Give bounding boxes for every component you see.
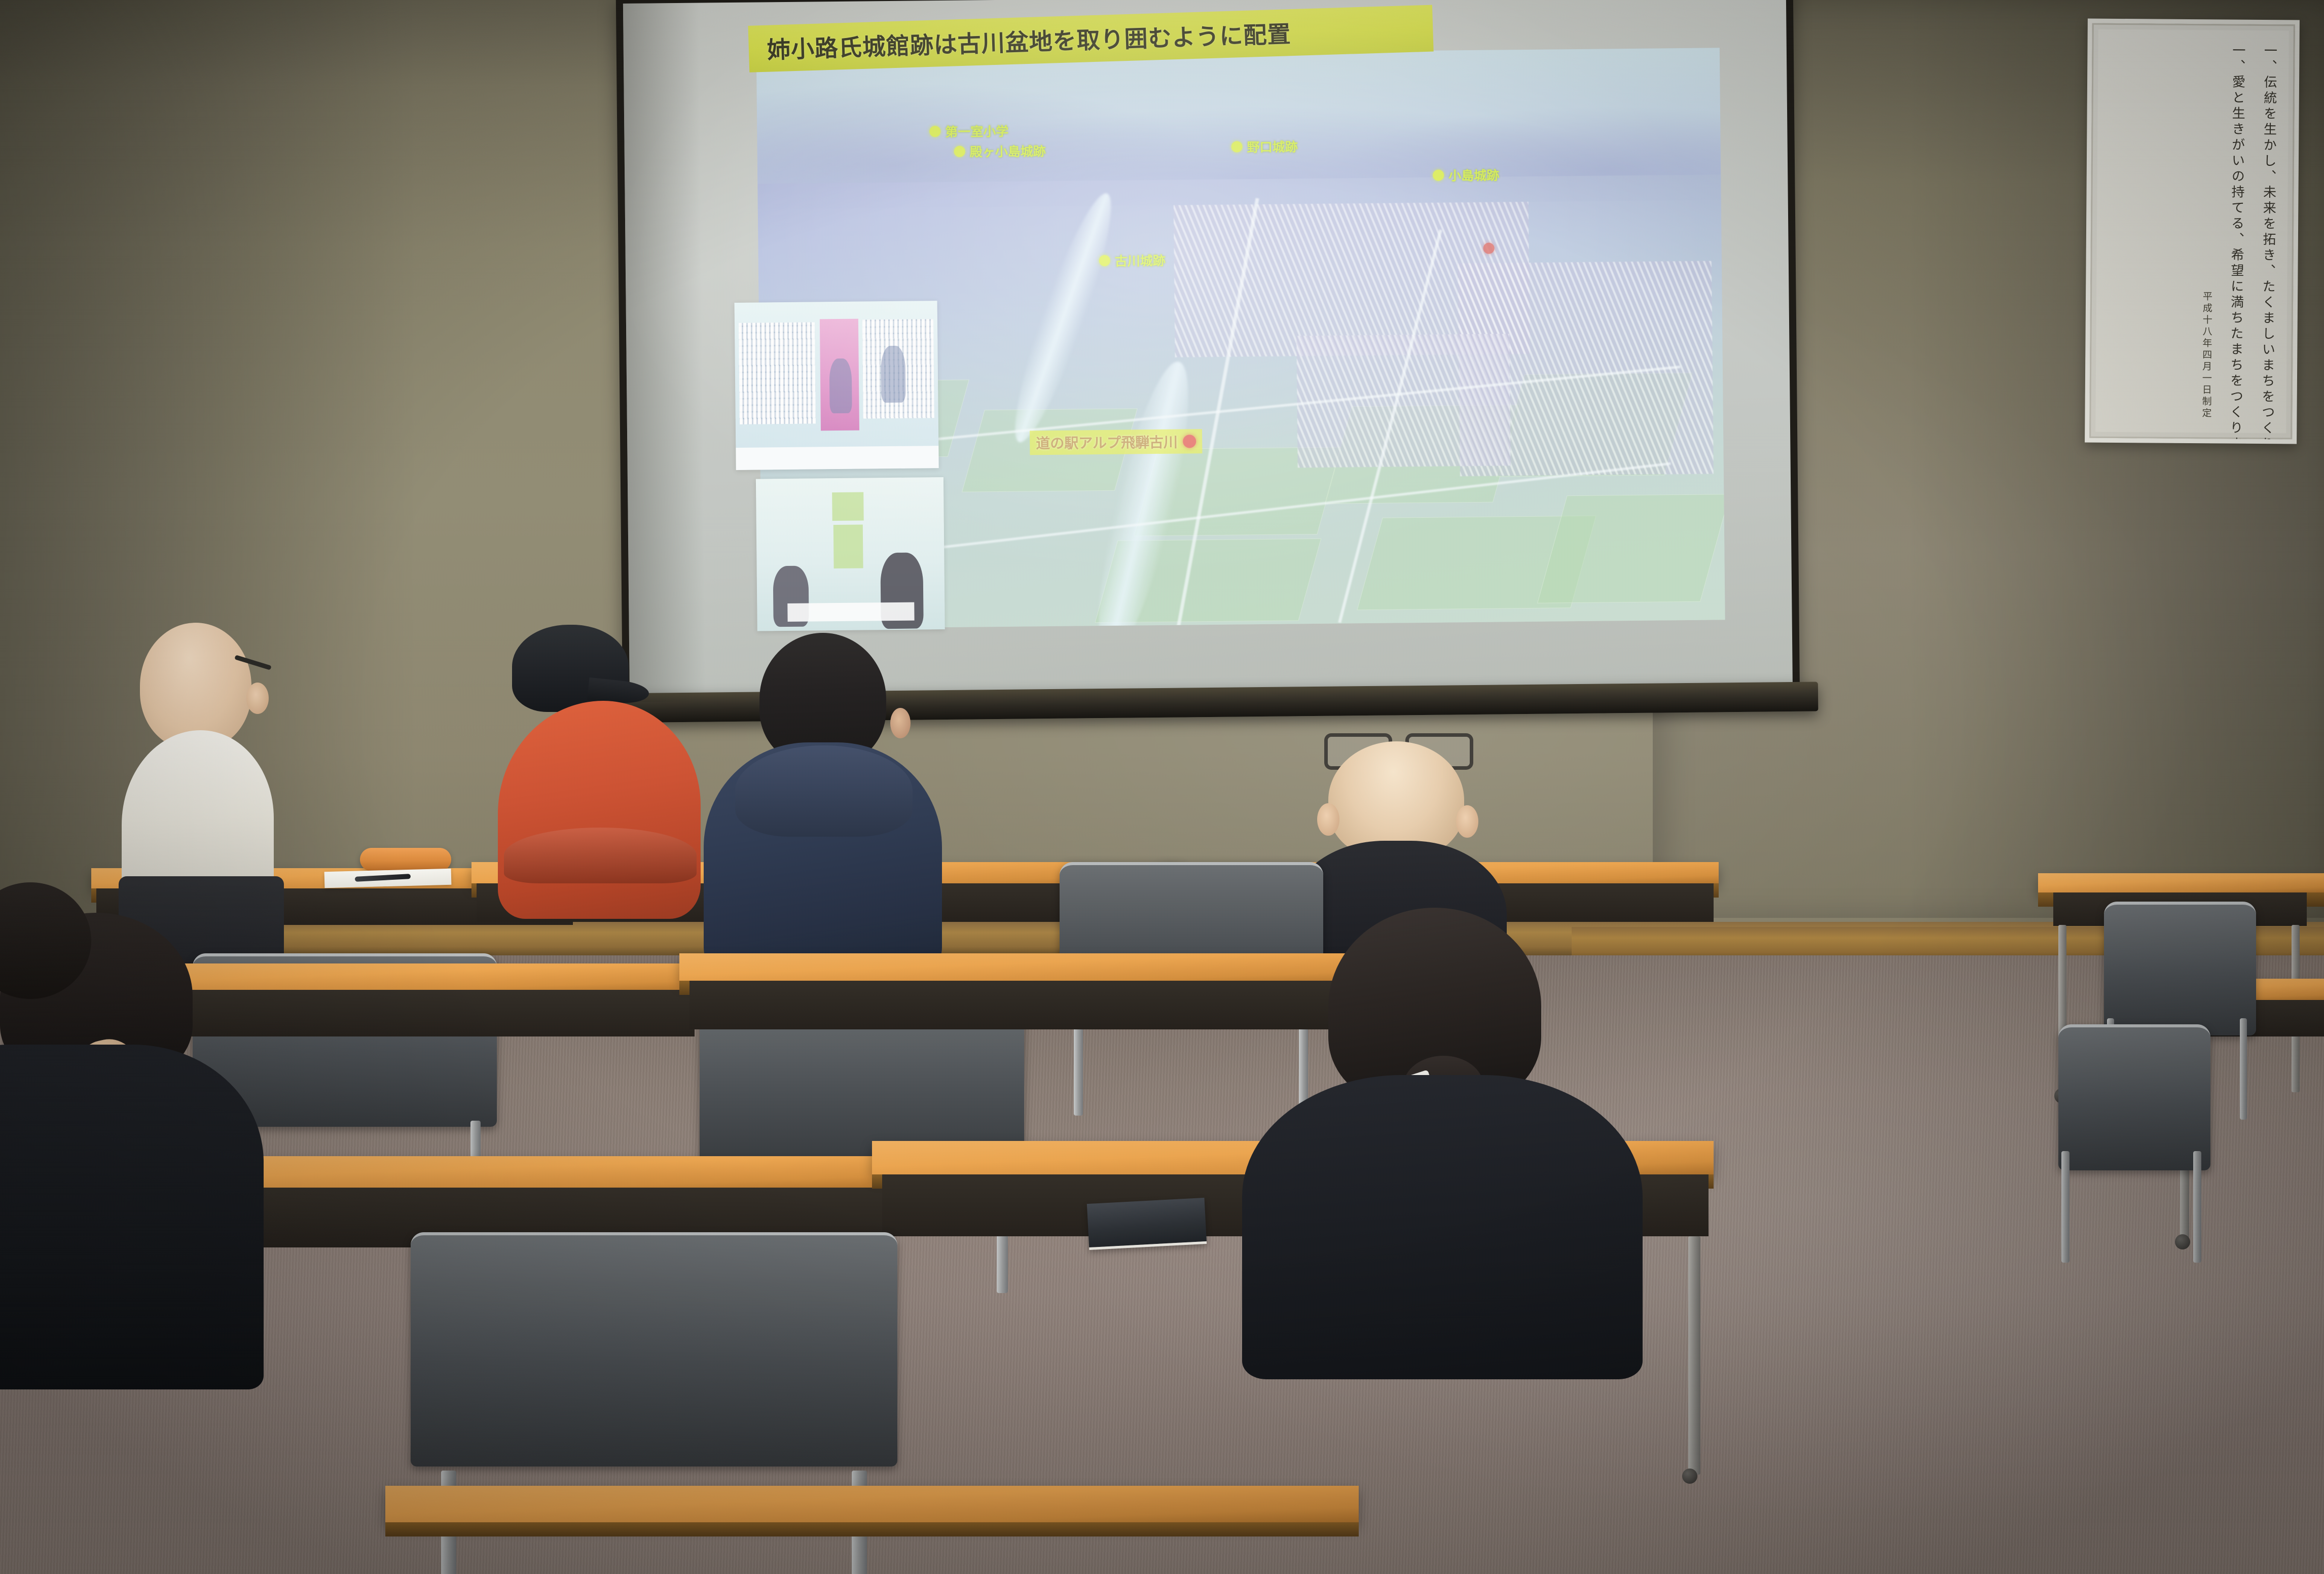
map-label-2: 小島城跡 bbox=[1433, 165, 1499, 184]
desk-object-pencil-case bbox=[360, 848, 451, 871]
desk-side-upper bbox=[2038, 873, 2324, 893]
inset-photo-upper bbox=[735, 301, 939, 470]
torso bbox=[0, 1045, 264, 1389]
map-label-2-text: 小島城跡 bbox=[1448, 165, 1499, 184]
map-highlight-label: 道の駅アルプ飛騨古川 bbox=[1030, 429, 1202, 455]
poster-signature: 平成十八年四月一日制定 bbox=[2200, 291, 2213, 419]
desk-row2-right bbox=[679, 953, 1420, 982]
inset-photo-lower bbox=[756, 477, 945, 631]
torso bbox=[1242, 1075, 1643, 1379]
attendee-partial-edge bbox=[0, 882, 101, 1014]
map-label-3-text: 古川城跡 bbox=[1115, 251, 1166, 270]
poster-content: 一、伝統を生かし、未来を拓き、たくましいまちをつくります。 一、愛と生きがいの持… bbox=[2095, 29, 2289, 434]
map-marker-dot bbox=[954, 146, 965, 157]
desk-edge bbox=[385, 1522, 1359, 1536]
desk-row4-front bbox=[385, 1486, 1359, 1523]
ear-right bbox=[1456, 805, 1478, 838]
screen-surface: 第一室小学 殿ヶ小島城跡 野口城跡 小島城跡 古川城跡 bbox=[623, 0, 1793, 702]
map-highlight-text: 道の駅アルプ飛騨古川 bbox=[1036, 432, 1178, 453]
torso bbox=[498, 701, 701, 919]
map-marker-dot bbox=[1099, 255, 1110, 266]
ear-left bbox=[1317, 803, 1339, 836]
map-marker-dot bbox=[929, 126, 940, 137]
map-marker-red bbox=[1483, 243, 1494, 254]
chair-backrest bbox=[2058, 1024, 2210, 1170]
screen-frame: 第一室小学 殿ヶ小島城跡 野口城跡 小島城跡 古川城跡 bbox=[616, 0, 1800, 707]
map-highlight-marker bbox=[1183, 435, 1196, 448]
ear bbox=[890, 708, 911, 738]
slide-title-text: 姉小路氏城館跡は古川盆地を取り囲むように配置 bbox=[748, 16, 1292, 66]
jacket-fold bbox=[504, 828, 697, 883]
chair-leg bbox=[2240, 1018, 2247, 1120]
chair-leg bbox=[2061, 1151, 2069, 1263]
map-label-0-line2: 殿ヶ小島城跡 bbox=[970, 141, 1046, 160]
attendee-man-navy-jacket bbox=[740, 633, 978, 1008]
chair-side-lower[interactable] bbox=[2058, 1024, 2210, 1263]
map-label-1-text: 野口城跡 bbox=[1247, 137, 1297, 156]
chair-backrest bbox=[2104, 902, 2256, 1035]
chair-backrest bbox=[411, 1232, 897, 1466]
desk-skirt-row2-right bbox=[689, 981, 1414, 1029]
map-label-0: 第一室小学 殿ヶ小島城跡 bbox=[929, 121, 1046, 161]
attendee-woman-ponytail bbox=[1328, 908, 1734, 1574]
map-label-1: 野口城跡 bbox=[1231, 137, 1297, 156]
map-marker-dot bbox=[1433, 170, 1444, 181]
attendee-man-cap-orange-jacket bbox=[512, 625, 715, 939]
poster-line-1: 一、伝統を生かし、未来を拓き、たくましいまちをつくります。 bbox=[2259, 44, 2278, 420]
chair-leg bbox=[2193, 1151, 2201, 1263]
poster-line-2: 一、愛と生きがいの持てる、希望に満ちたまちをつくります。 bbox=[2227, 44, 2246, 420]
framed-wall-poster: 一、伝統を生かし、未来を拓き、たくましいまちをつくります。 一、愛と生きがいの持… bbox=[2085, 19, 2300, 444]
hood bbox=[735, 745, 913, 837]
desk-object-notebook bbox=[1087, 1198, 1207, 1250]
screen-shadow bbox=[623, 3, 706, 702]
seminar-room-photo: 第一室小学 殿ヶ小島城跡 野口城跡 小島城跡 古川城跡 bbox=[0, 0, 2324, 1574]
chair-leg bbox=[1074, 1014, 1083, 1116]
hair bbox=[0, 882, 91, 999]
map-label-0-line1: 第一室小学 bbox=[945, 122, 1008, 140]
ear bbox=[246, 683, 269, 714]
map-marker-dot bbox=[1231, 141, 1243, 152]
map-label-3: 古川城跡 bbox=[1099, 251, 1166, 270]
